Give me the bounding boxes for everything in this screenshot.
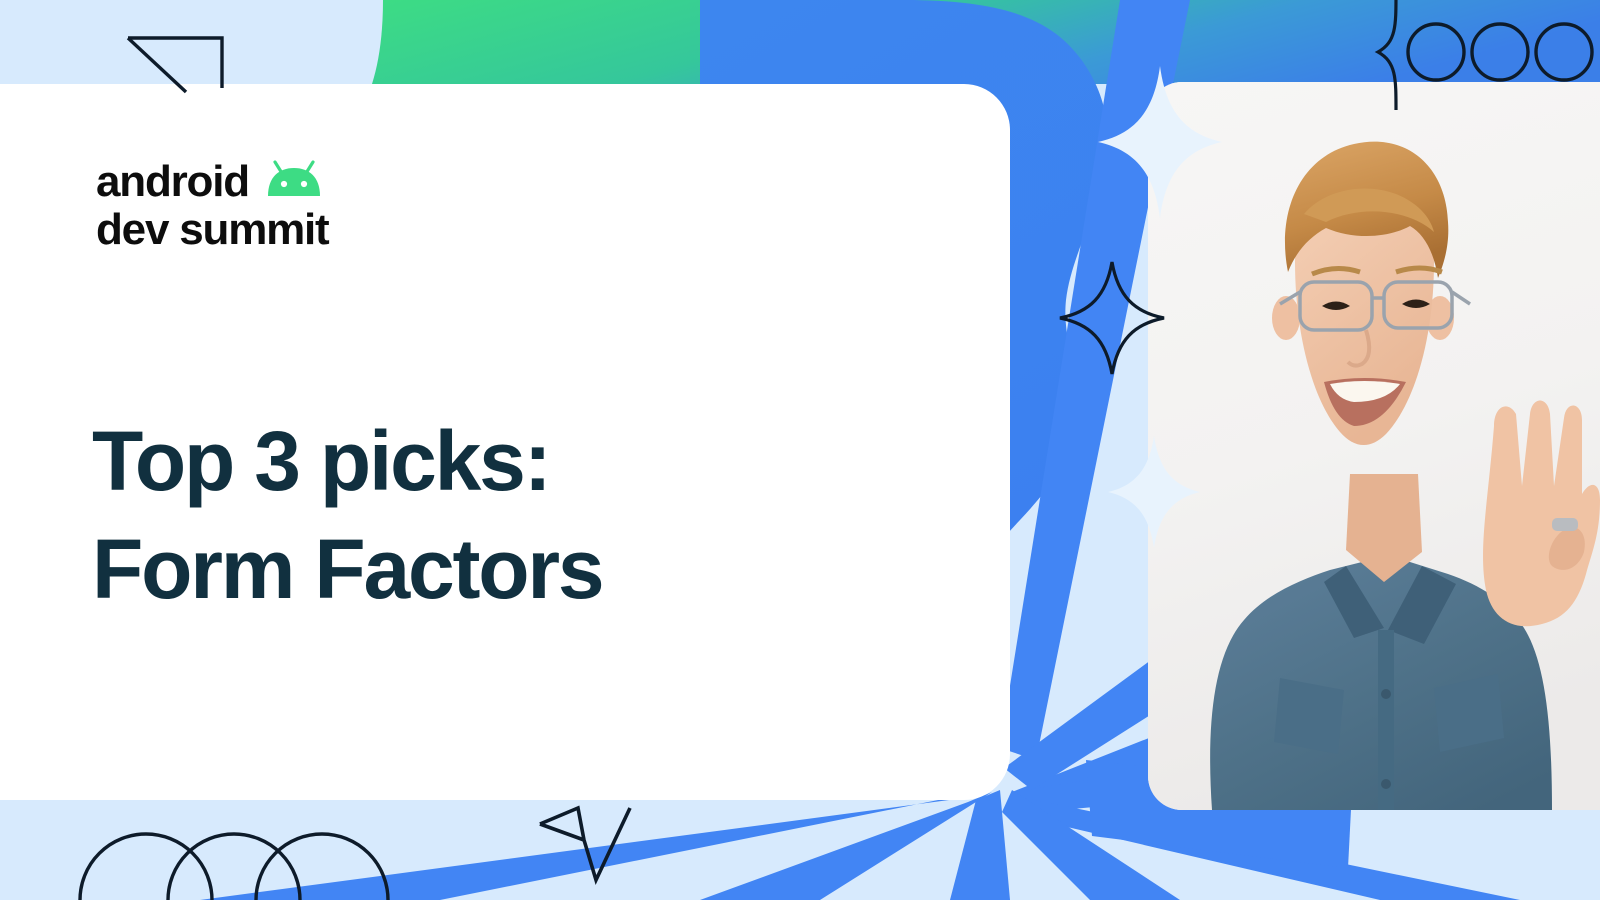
outline-arrow-star-icon	[540, 808, 630, 880]
pale-sparkle-icon	[1098, 66, 1222, 218]
outline-arrow-star-tail	[540, 824, 584, 840]
outline-circle-icon	[80, 834, 212, 900]
outline-circle-icon	[256, 834, 388, 900]
outline-circles-bottom	[80, 834, 388, 900]
outline-decorations	[0, 0, 1600, 900]
outline-brace-icon	[1378, 0, 1396, 110]
outline-circles-top	[1408, 24, 1592, 80]
pale-sparkle-icon	[1108, 436, 1200, 548]
outline-circle-icon	[1536, 24, 1592, 80]
outline-circle-icon	[1472, 24, 1528, 80]
slide-canvas: android dev summit Top 3 picks: Form Fac…	[0, 0, 1600, 900]
outline-circle-icon	[1408, 24, 1464, 80]
outline-circle-icon	[168, 834, 300, 900]
outline-sparkle-icon	[1060, 262, 1164, 374]
outline-triangle-icon	[128, 38, 222, 92]
